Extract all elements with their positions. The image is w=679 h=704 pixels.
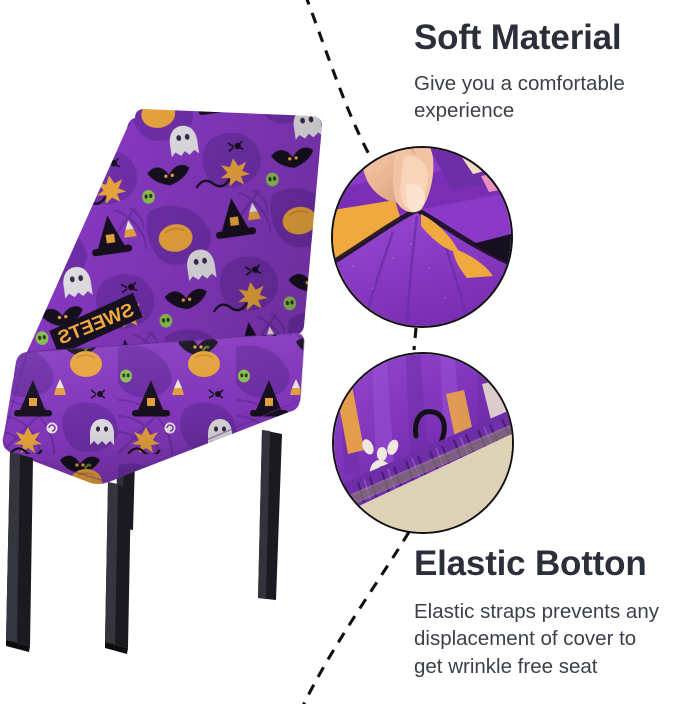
feature-body-soft-material: Give you a comfortable experience (414, 70, 666, 125)
callout-image-elastic-bottom (332, 352, 514, 534)
feature-body-line: experience (414, 97, 666, 124)
feature-body-elastic-bottom: Elastic straps prevents any displacement… (414, 598, 672, 680)
feature-body-line: get wrinkle free seat (414, 653, 672, 680)
callout-image-soft-material (331, 146, 513, 328)
chair-with-halloween-slipcover: SWEETS (0, 100, 345, 660)
connector-tick-top (414, 328, 416, 350)
infographic-canvas: SWEETS (0, 0, 679, 704)
feature-title-soft-material: Soft Material (414, 20, 621, 57)
feature-body-line: Elastic straps prevents any (414, 598, 672, 625)
chair-seat (0, 330, 345, 500)
feature-title-elastic-bottom: Elastic Botton (414, 546, 647, 583)
chair-front-legs (6, 452, 131, 654)
feature-body-line: Give you a comfortable (414, 70, 666, 97)
feature-body-line: displacement of cover to (414, 625, 672, 652)
